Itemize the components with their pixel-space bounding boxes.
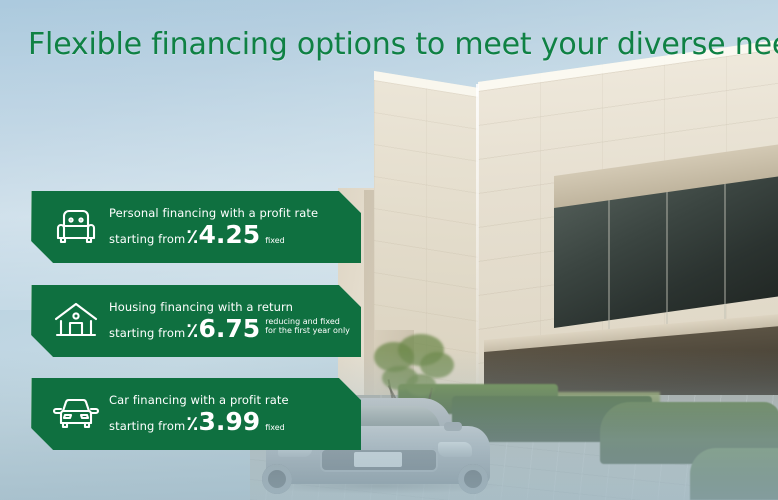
- offer-headline: Personal financing with a profit rate: [109, 206, 351, 221]
- offer-card-housing-financing[interactable]: Housing financing with a return starting…: [31, 285, 361, 357]
- building-corner-edge: [476, 84, 479, 384]
- window-mullion: [608, 200, 610, 340]
- house-icon: [47, 300, 105, 342]
- offer-rate-line: starting from ٪3.99 fixed: [109, 409, 351, 436]
- offer-rate-line: starting from ٪4.25 fixed: [109, 222, 351, 249]
- offer-from-label: starting from: [109, 419, 185, 433]
- page-title: Flexible financing options to meet your …: [28, 27, 778, 62]
- percent-symbol: ٪: [186, 224, 198, 248]
- offer-headline: Car financing with a profit rate: [109, 393, 351, 408]
- offer-card-text: Housing financing with a return starting…: [105, 300, 361, 343]
- offer-rate-note: fixed: [265, 236, 285, 245]
- offer-rate: ٪3.99: [186, 409, 260, 436]
- offer-rate-value: 6.75: [199, 314, 261, 343]
- offer-rate: ٪6.75: [186, 316, 260, 343]
- offer-card-personal-financing[interactable]: Personal financing with a profit rate st…: [31, 191, 361, 263]
- offer-rate-note: reducing and fixed for the first year on…: [265, 317, 350, 335]
- offer-rate-value: 3.99: [199, 407, 261, 436]
- offer-from-label: starting from: [109, 232, 185, 246]
- offer-rate-line: starting from ٪6.75 reducing and fixed f…: [109, 316, 351, 343]
- financing-promo-banner: Flexible financing options to meet your …: [0, 0, 778, 500]
- offer-from-label: starting from: [109, 326, 185, 340]
- offer-rate: ٪4.25: [186, 222, 260, 249]
- percent-symbol: ٪: [186, 318, 198, 342]
- offer-rate-note: fixed: [265, 423, 285, 432]
- percent-symbol: ٪: [186, 411, 198, 435]
- car-icon: [47, 395, 105, 433]
- offer-rate-value: 4.25: [199, 220, 261, 249]
- offer-headline: Housing financing with a return: [109, 300, 351, 315]
- offer-card-car-financing[interactable]: Car financing with a profit rate startin…: [31, 378, 361, 450]
- offer-card-text: Personal financing with a profit rate st…: [105, 206, 361, 249]
- window-mullion: [666, 192, 668, 332]
- armchair-icon: [47, 207, 105, 247]
- offer-card-text: Car financing with a profit rate startin…: [105, 393, 361, 436]
- window-mullion: [724, 184, 726, 324]
